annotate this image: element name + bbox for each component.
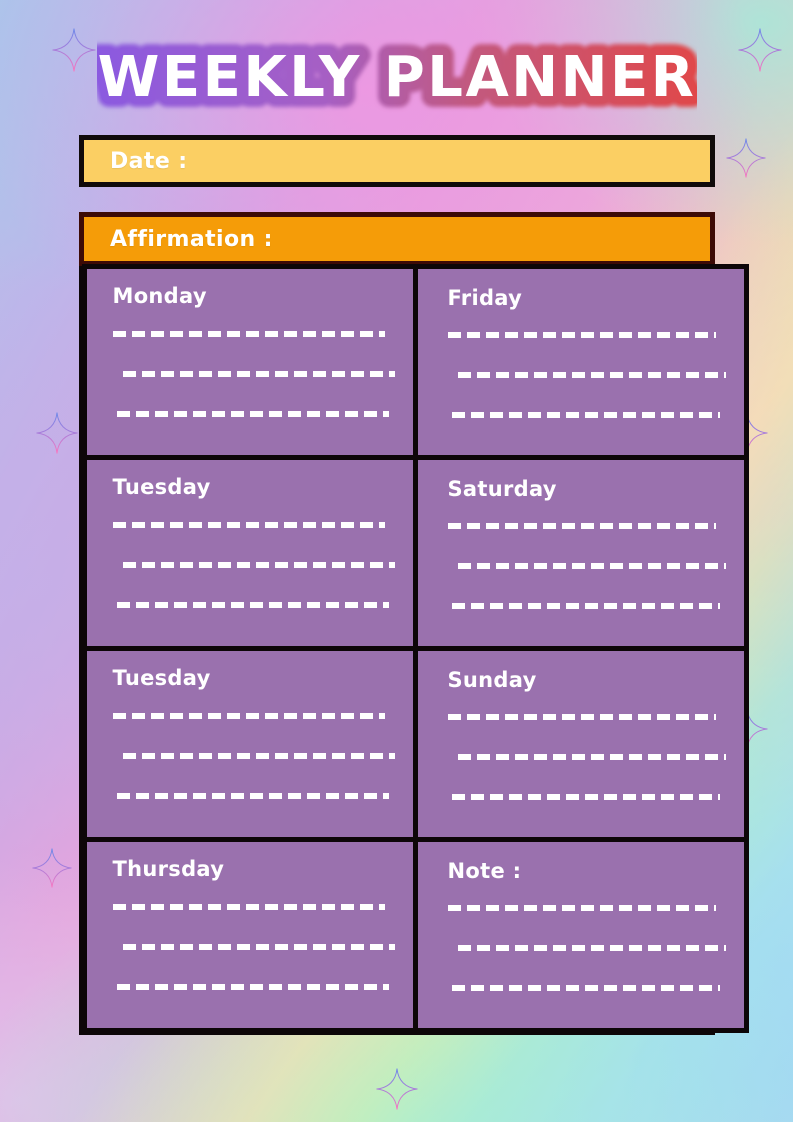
day-cell-label: Saturday [448, 478, 726, 501]
date-label: Date : [110, 149, 187, 174]
day-cell-label: Thursday [113, 858, 395, 881]
day-cell-tuesday-1[interactable]: Tuesday [82, 455, 418, 651]
dashed-write-line[interactable] [452, 794, 720, 800]
day-cell-thursday-3[interactable]: Thursday [82, 837, 418, 1033]
page-title: WEEKLY PLANNERWEEKLY PLANNERWEEKLY PLANN… [97, 36, 697, 120]
day-cell-saturday-1[interactable]: Saturday [413, 455, 749, 651]
writing-lines[interactable] [113, 314, 395, 441]
day-cell-tuesday-2[interactable]: Tuesday [82, 646, 418, 842]
dashed-write-line[interactable] [448, 905, 716, 911]
dashed-write-line[interactable] [117, 984, 389, 990]
writing-lines[interactable] [448, 698, 726, 823]
dashed-write-line[interactable] [123, 753, 395, 759]
writing-lines[interactable] [448, 316, 726, 441]
day-cell-label: Friday [448, 287, 726, 310]
affirmation-label: Affirmation : [110, 227, 273, 252]
dashed-write-line[interactable] [123, 371, 395, 377]
day-cell-note-3[interactable]: Note : [413, 837, 749, 1033]
writing-lines[interactable] [113, 696, 395, 823]
dashed-write-line[interactable] [452, 412, 720, 418]
dashed-write-line[interactable] [117, 793, 389, 799]
dashed-write-line[interactable] [458, 945, 726, 951]
dashed-write-line[interactable] [113, 331, 385, 337]
dashed-write-line[interactable] [452, 603, 720, 609]
dashed-write-line[interactable] [113, 713, 385, 719]
day-cell-friday-0[interactable]: Friday [413, 264, 749, 460]
day-cell-label: Sunday [448, 669, 726, 692]
day-cell-label: Tuesday [113, 667, 395, 690]
date-field[interactable]: Date : [79, 135, 715, 187]
writing-lines[interactable] [113, 887, 395, 1014]
writing-lines[interactable] [448, 889, 726, 1014]
dashed-write-line[interactable] [452, 985, 720, 991]
dashed-write-line[interactable] [448, 714, 716, 720]
day-cell-monday-0[interactable]: Monday [82, 264, 418, 460]
dashed-write-line[interactable] [458, 563, 726, 569]
planner-grid: MondayFridayTuesdaySaturdayTuesdaySunday… [79, 266, 715, 1035]
dashed-write-line[interactable] [448, 332, 716, 338]
affirmation-field[interactable]: Affirmation : [79, 212, 715, 266]
dashed-write-line[interactable] [123, 562, 395, 568]
dashed-write-line[interactable] [117, 411, 389, 417]
planner-sheet: Date : Affirmation : MondayFridayTuesday… [79, 135, 715, 1035]
dashed-write-line[interactable] [448, 523, 716, 529]
svg-text:WEEKLY PLANNER: WEEKLY PLANNER [97, 45, 696, 110]
dashed-write-line[interactable] [113, 904, 385, 910]
dashed-write-line[interactable] [458, 372, 726, 378]
day-cell-label: Note : [448, 860, 726, 883]
day-cell-sunday-2[interactable]: Sunday [413, 646, 749, 842]
day-cell-label: Tuesday [113, 476, 395, 499]
writing-lines[interactable] [448, 507, 726, 632]
dashed-write-line[interactable] [123, 944, 395, 950]
writing-lines[interactable] [113, 505, 395, 632]
dashed-write-line[interactable] [458, 754, 726, 760]
page-title-container: WEEKLY PLANNERWEEKLY PLANNERWEEKLY PLANN… [0, 36, 793, 112]
dashed-write-line[interactable] [117, 602, 389, 608]
dashed-write-line[interactable] [113, 522, 385, 528]
day-cell-label: Monday [113, 285, 395, 308]
